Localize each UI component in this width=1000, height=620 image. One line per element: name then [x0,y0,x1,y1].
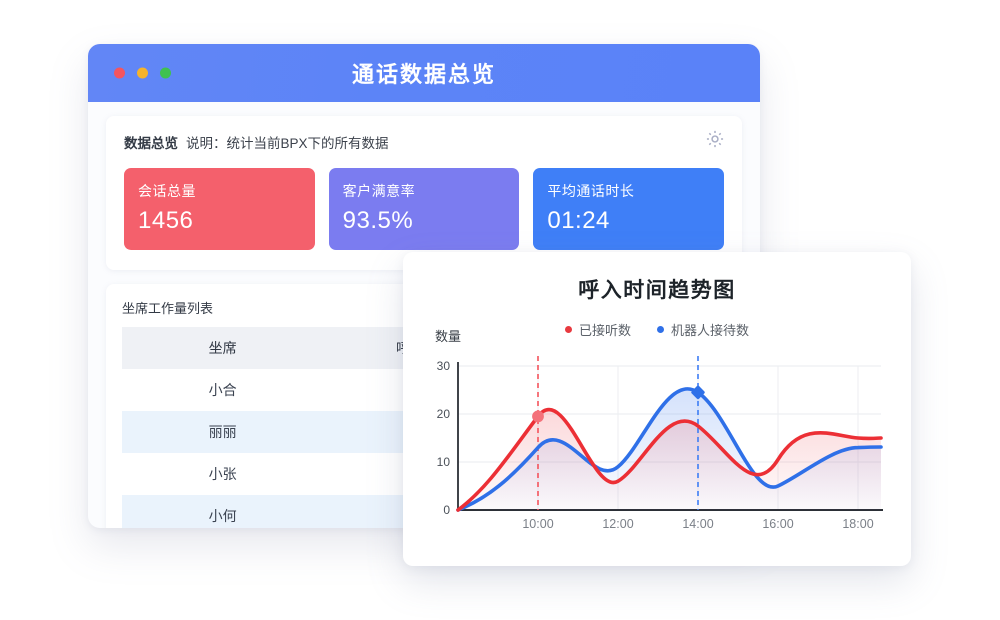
legend-label: 已接听数 [579,320,631,339]
cell-agent: 丽丽 [122,411,323,453]
svg-text:18:00: 18:00 [842,517,873,531]
gear-icon[interactable] [704,128,726,150]
stat-card[interactable]: 会话总量 1456 [124,168,315,250]
window-title: 通话数据总览 [88,57,760,89]
stat-card-label: 平均通话时长 [547,181,710,201]
svg-text:14:00: 14:00 [682,517,713,531]
stat-card-value: 93.5% [343,207,506,235]
chart-legend: 已接听数 机器人接待数 [403,320,911,339]
column-header-agent[interactable]: 坐席 [122,327,323,369]
cell-agent: 小张 [122,453,323,495]
chart-xtick-labels: 10:00 12:00 14:00 16:00 18:00 [522,517,873,531]
chart-ytick-labels: 30 20 10 0 [437,359,451,517]
close-dot-icon[interactable] [114,68,125,79]
svg-text:12:00: 12:00 [602,517,633,531]
svg-text:0: 0 [443,503,450,517]
maximize-dot-icon[interactable] [160,68,171,79]
window-titlebar: 通话数据总览 [88,44,760,102]
stat-card-label: 客户满意率 [343,181,506,201]
cell-agent: 小合 [122,369,323,411]
summary-title: 数据总览 [124,132,178,152]
screenshot-root: 通话数据总览 数据总览 说明：统计当前BPX下的所有数据 会话总量 [0,0,1000,620]
stat-card-value: 01:24 [547,207,710,235]
legend-dot-icon [657,326,664,333]
cell-agent: 小何 [122,495,323,528]
data-point-marker-answered[interactable] [533,411,544,422]
svg-text:10:00: 10:00 [522,517,553,531]
legend-item-bot[interactable]: 机器人接待数 [657,320,749,339]
chart-ylabel: 数量 [435,326,461,345]
window-controls[interactable] [114,68,171,79]
svg-text:30: 30 [437,359,451,373]
stat-card-value: 1456 [138,207,301,235]
chart-title: 呼入时间趋势图 [403,274,911,304]
legend-item-answered[interactable]: 已接听数 [565,320,631,339]
trend-chart-panel: 呼入时间趋势图 已接听数 机器人接待数 数量 [403,252,911,566]
stat-card[interactable]: 平均通话时长 01:24 [533,168,724,250]
legend-dot-icon [565,326,572,333]
stat-card-label: 会话总量 [138,181,301,201]
summary-header: 数据总览 说明：统计当前BPX下的所有数据 [124,132,724,152]
chart-plot-area: 30 20 10 0 10:00 12:00 14:00 16:00 18:00 [403,348,911,558]
summary-panel: 数据总览 说明：统计当前BPX下的所有数据 会话总量 1456 客户满意 [106,116,742,270]
svg-text:20: 20 [437,407,451,421]
stat-cards: 会话总量 1456 客户满意率 93.5% 平均通话时长 01:24 [124,168,724,250]
summary-description: 说明：统计当前BPX下的所有数据 [186,132,389,152]
svg-text:10: 10 [437,455,451,469]
minimize-dot-icon[interactable] [137,68,148,79]
legend-label: 机器人接待数 [671,320,749,339]
stat-card[interactable]: 客户满意率 93.5% [329,168,520,250]
svg-text:16:00: 16:00 [762,517,793,531]
